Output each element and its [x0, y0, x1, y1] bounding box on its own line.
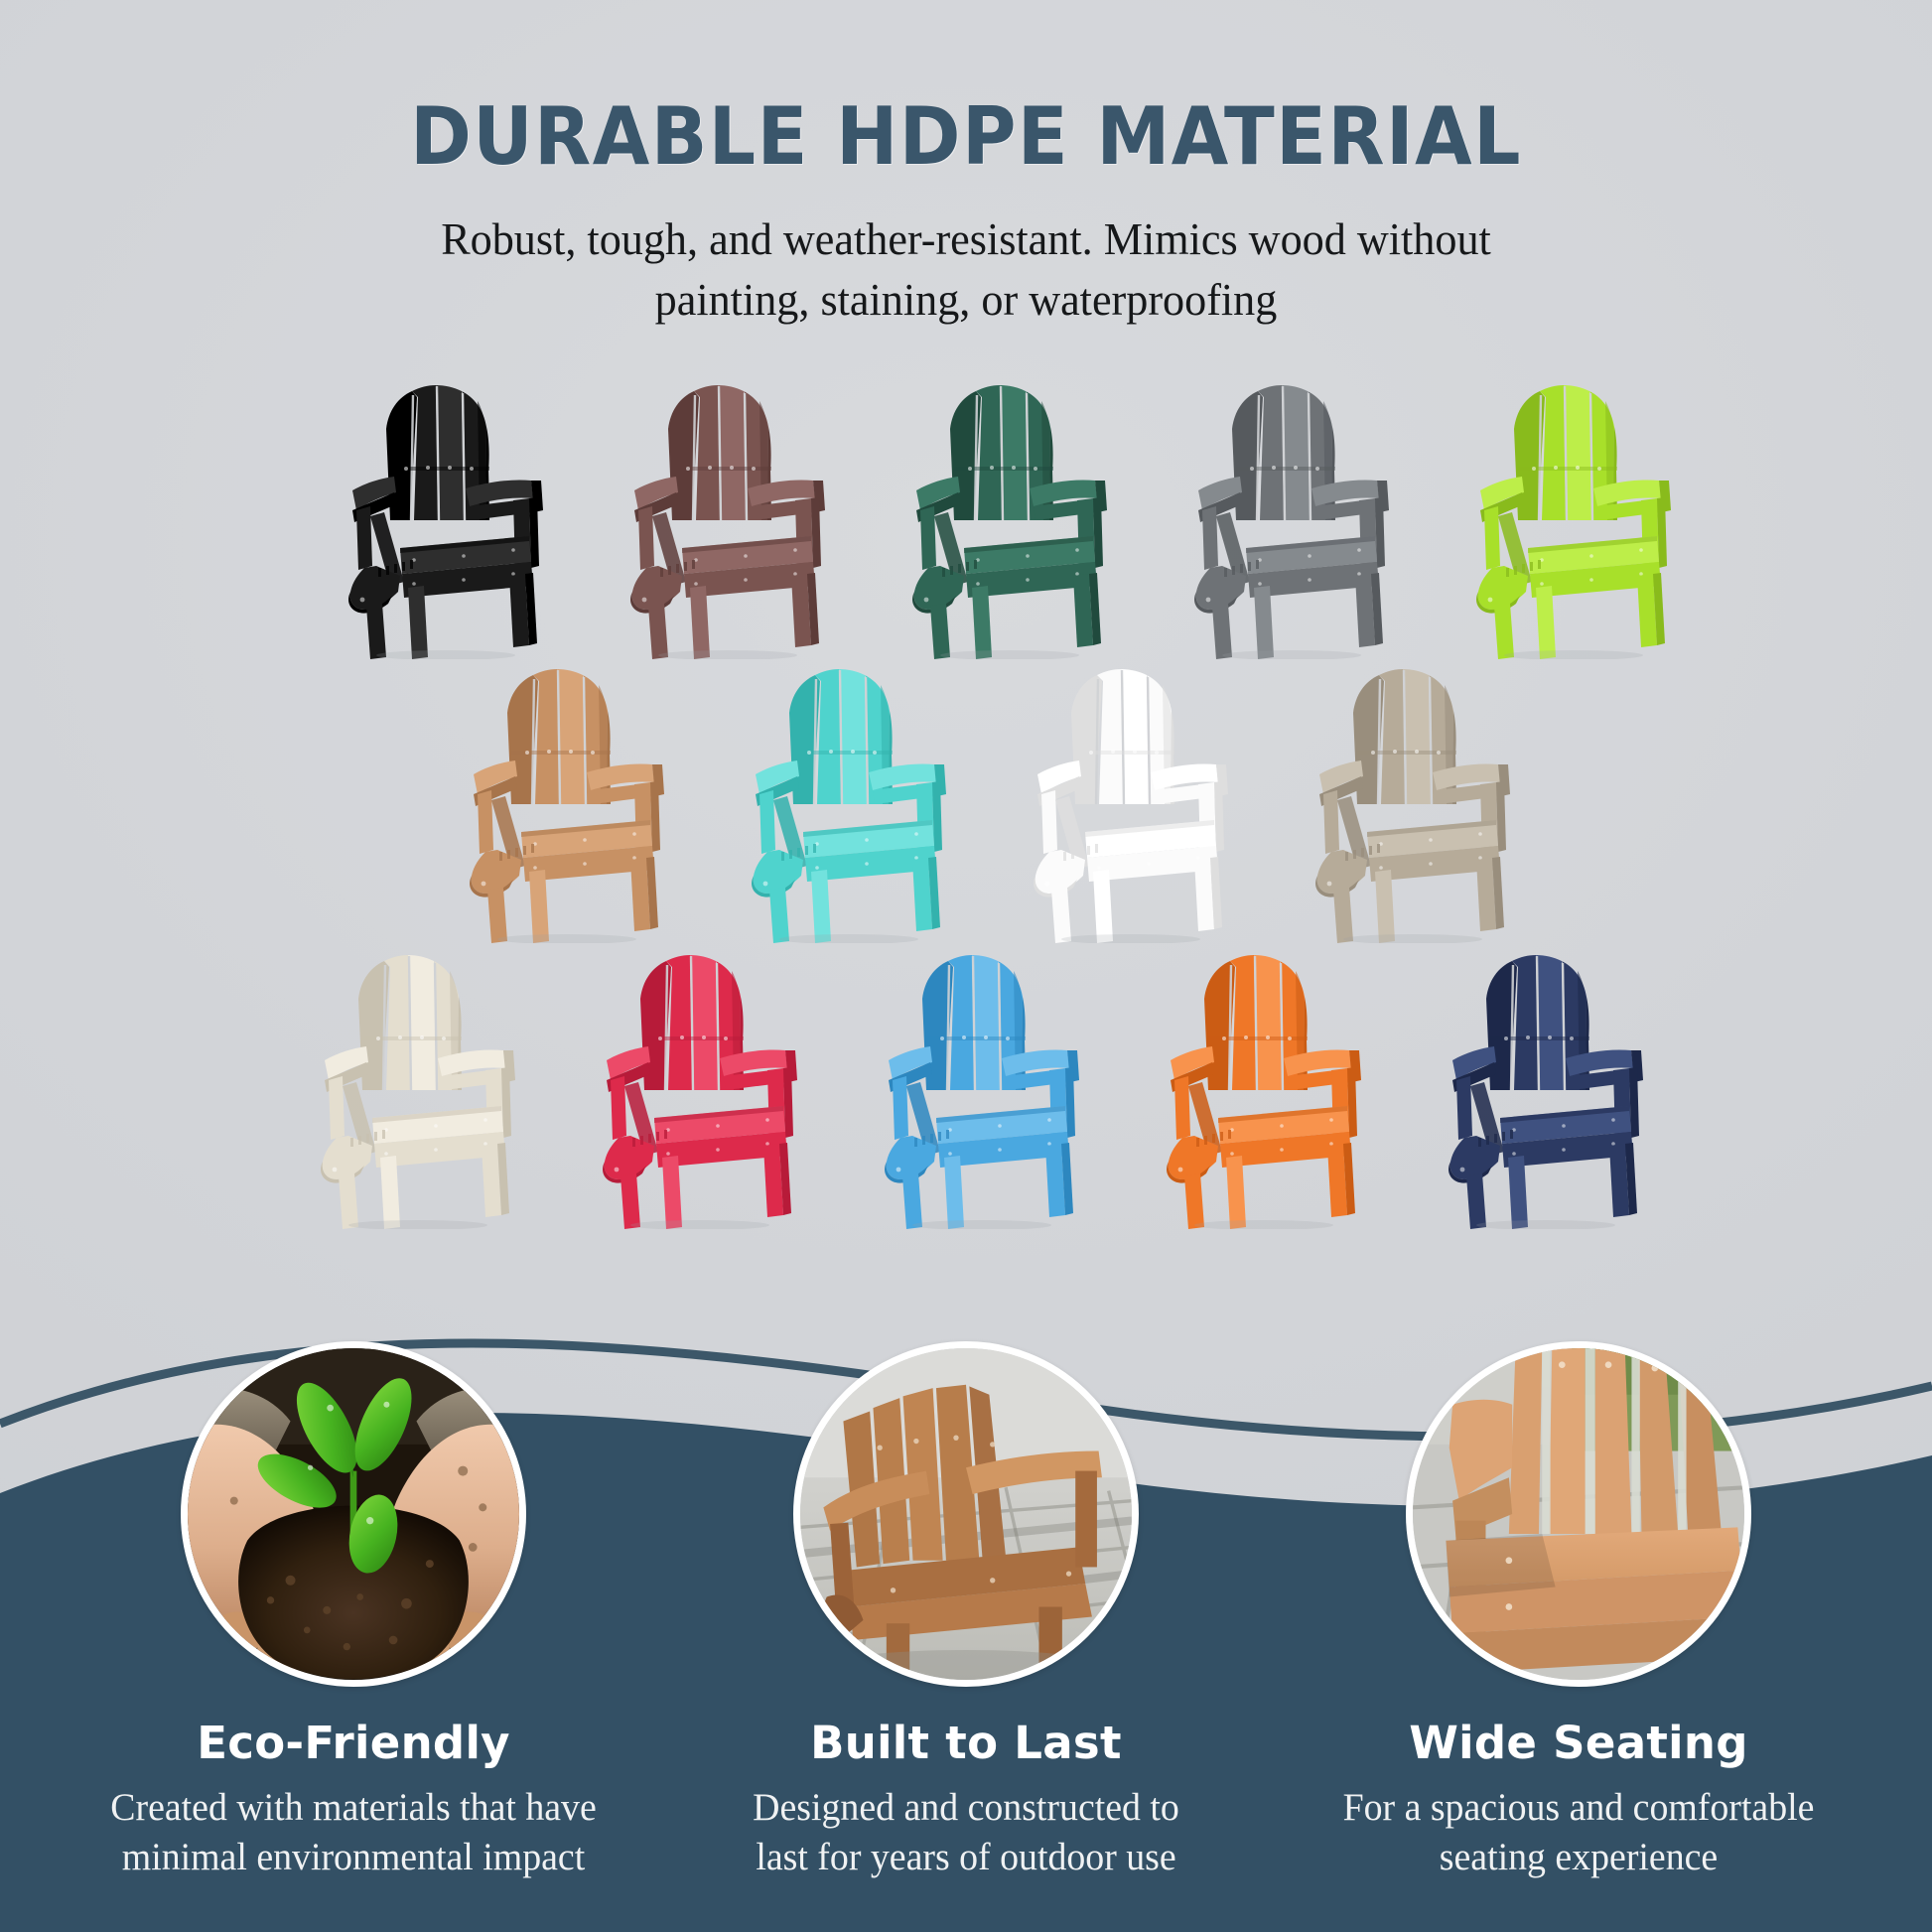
page-title: DURABLE HDPE MATERIAL	[68, 95, 1864, 179]
chair-swatch-teak[interactable]	[436, 655, 700, 943]
feature-desc-line-2: minimal environmental impact	[65, 1833, 642, 1882]
page-subtitle: Robust, tough, and weather-resistant. Mi…	[39, 208, 1893, 330]
chair-swatch-lime[interactable]	[1443, 371, 1707, 659]
feature-desc-line-2: seating experience	[1290, 1833, 1867, 1882]
feature-title-built-to-last: Built to Last	[668, 1717, 1264, 1769]
feature-eco-friendly: Eco-Friendly Created with materials that…	[56, 1341, 651, 1882]
chair-swatch-khaki[interactable]	[1282, 655, 1546, 943]
feature-desc-line-1: Designed and constructed to	[677, 1783, 1255, 1833]
features-section: Eco-Friendly Created with materials that…	[0, 1177, 1932, 1932]
feature-title-eco-friendly: Eco-Friendly	[56, 1717, 651, 1769]
header: DURABLE HDPE MATERIAL Robust, tough, and…	[0, 0, 1932, 330]
feature-built-to-last: Built to Last Designed and constructed t…	[668, 1341, 1264, 1882]
chair-color-row-2	[0, 655, 1932, 943]
feature-desc-wide-seating: For a spacious and comfortable seating e…	[1290, 1783, 1867, 1882]
chair-swatch-black[interactable]	[315, 371, 579, 659]
chair-swatch-gray[interactable]	[1161, 371, 1425, 659]
subtitle-line-2: painting, staining, or waterproofing	[39, 269, 1893, 330]
feature-desc-line-2: last for years of outdoor use	[677, 1833, 1255, 1882]
feature-wide-seating: Wide Seating For a spacious and comforta…	[1281, 1341, 1876, 1882]
chair-swatch-white[interactable]	[1000, 655, 1264, 943]
feature-title-wide-seating: Wide Seating	[1281, 1717, 1876, 1769]
feature-desc-line-1: Created with materials that have	[65, 1783, 642, 1833]
subtitle-line-1: Robust, tough, and weather-resistant. Mi…	[39, 208, 1893, 269]
chair-swatch-brown[interactable]	[597, 371, 861, 659]
feature-desc-eco-friendly: Created with materials that have minimal…	[65, 1783, 642, 1882]
feature-image-built-to-last	[793, 1341, 1139, 1687]
feature-desc-built-to-last: Designed and constructed to last for yea…	[677, 1783, 1255, 1882]
feature-image-eco-friendly	[181, 1341, 526, 1687]
feature-image-wide-seating	[1406, 1341, 1751, 1687]
chair-swatch-turquoise[interactable]	[718, 655, 982, 943]
infographic-root: DURABLE HDPE MATERIAL Robust, tough, and…	[0, 0, 1932, 1932]
chair-swatch-dark-green[interactable]	[879, 371, 1143, 659]
feature-desc-line-1: For a spacious and comfortable	[1290, 1783, 1867, 1833]
chair-color-row-1	[0, 371, 1932, 659]
